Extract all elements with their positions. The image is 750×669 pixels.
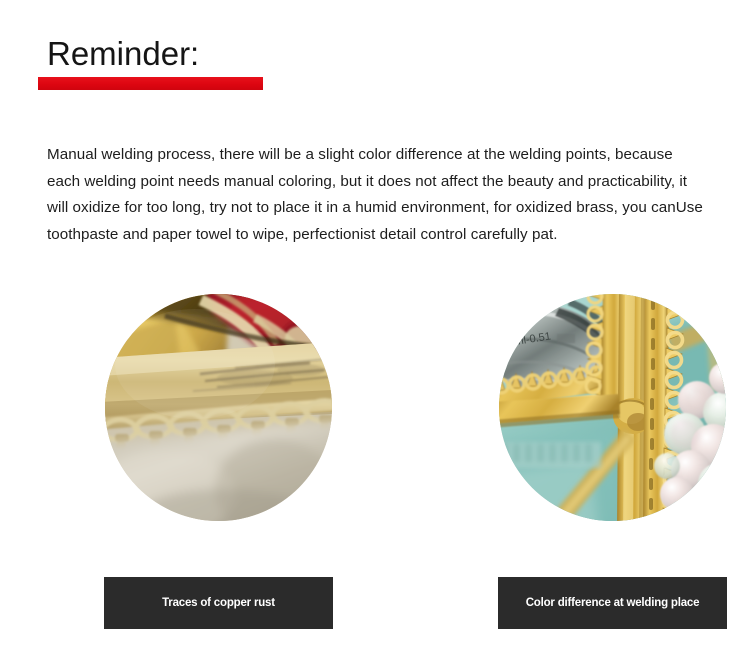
caption-text: Color difference at welding place — [526, 597, 700, 609]
page-root: Reminder: Manual welding process, there … — [0, 0, 750, 669]
photo-copper-rust — [105, 294, 332, 521]
caption-text: Traces of copper rust — [162, 597, 275, 609]
photo-welding-color-difference: 5ml-0.51 — [499, 294, 726, 521]
caption-welding-color-difference: Color difference at welding place — [498, 577, 727, 629]
title-underline-bar — [38, 77, 263, 90]
figure-copper-rust: Traces of copper rust — [78, 294, 358, 634]
figure-row: Traces of copper rust — [0, 278, 750, 618]
caption-copper-rust: Traces of copper rust — [104, 577, 333, 629]
figure-welding-color-difference: 5ml-0.51 — [472, 294, 750, 634]
heading-block: Reminder: — [38, 34, 678, 90]
reminder-paragraph: Manual welding process, there will be a … — [47, 142, 707, 248]
page-title: Reminder: — [38, 34, 678, 74]
